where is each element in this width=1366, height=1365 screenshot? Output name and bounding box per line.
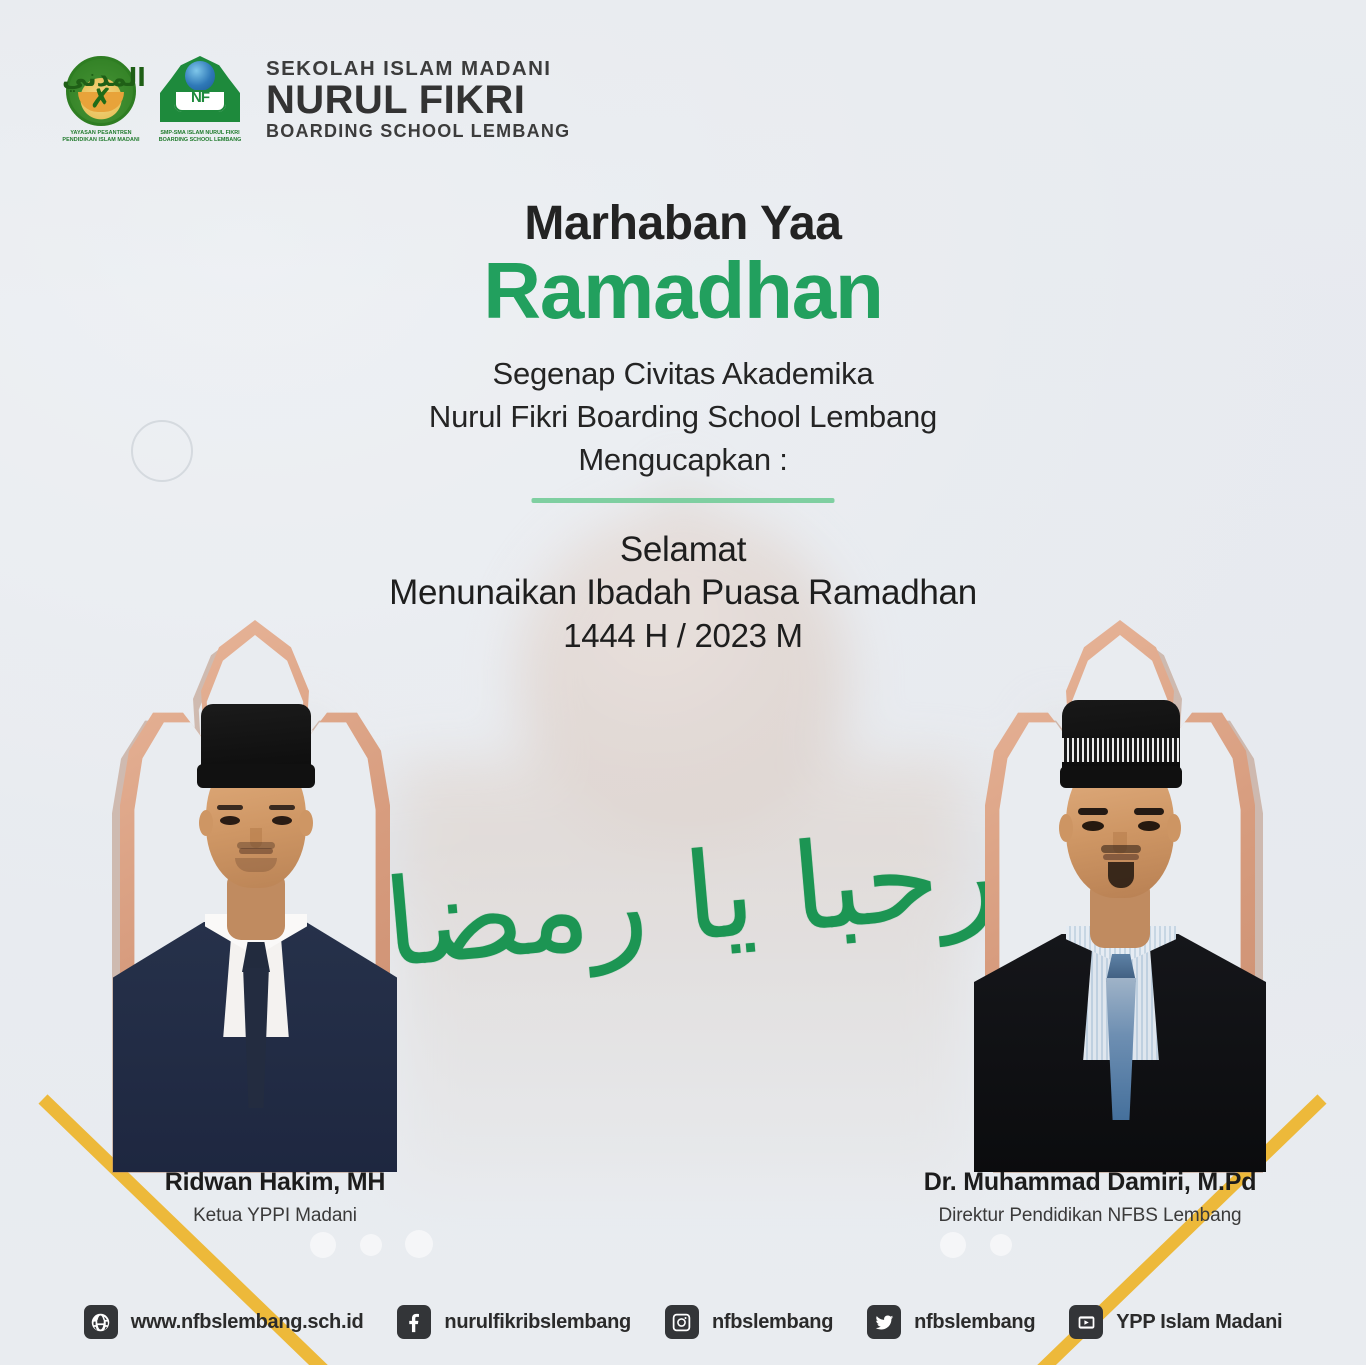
headline-block: Marhaban Yaa Ramadhan [0, 196, 1366, 334]
logo-quill-icon: ✗ [84, 87, 118, 109]
person-role: Ketua YPPI Madani [60, 1205, 490, 1227]
facebook-icon[interactable] [397, 1305, 431, 1339]
footer-label[interactable]: nfbslembang [712, 1311, 833, 1334]
nurul-fikri-logo: NF SMP-SMA ISLAM NURUL FIKRI BOARDING SC… [154, 56, 246, 144]
twitter-icon[interactable] [867, 1305, 901, 1339]
footer-item-youtube[interactable]: YPP Islam Madani [1069, 1305, 1282, 1339]
person-card-left [35, 620, 465, 1240]
greeting-line-1: Selamat [0, 528, 1366, 571]
footer-label[interactable]: nurulfikribslembang [444, 1311, 631, 1334]
headline-pretitle: Marhaban Yaa [0, 196, 1366, 251]
nf-caption-line2: BOARDING SCHOOL LEMBANG [151, 137, 249, 144]
portrait-photo-right [970, 642, 1270, 1172]
person-caption-left: Ridwan Hakim, MH Ketua YPPI Madani [60, 1168, 490, 1227]
headline-title: Ramadhan [0, 249, 1366, 334]
social-footer: www.nfbslembang.sch.id nurulfikribslemba… [0, 1279, 1366, 1365]
person-caption-right: Dr. Muhammad Damiri, M.Pd Direktur Pendi… [875, 1168, 1305, 1227]
greeting-line-2: Menunaikan Ibadah Puasa Ramadhan [0, 571, 1366, 614]
ramadhan-greeting-poster: المدني ✗ YAYASAN PESANTREN PENDIDIKAN IS… [0, 0, 1366, 1365]
brand-wordmark: SEKOLAH ISLAM MADANI NURUL FIKRI BOARDIN… [266, 58, 570, 143]
yppi-caption-line2: PENDIDIKAN ISLAM MADANI [62, 137, 140, 144]
footer-item-instagram[interactable]: nfbslembang [665, 1305, 833, 1339]
instagram-icon[interactable] [665, 1305, 699, 1339]
footer-label[interactable]: YPP Islam Madani [1116, 1311, 1282, 1334]
footer-item-facebook[interactable]: nurulfikribslembang [397, 1305, 631, 1339]
yppi-madani-logo: المدني ✗ YAYASAN PESANTREN PENDIDIKAN IS… [62, 56, 140, 144]
youtube-icon[interactable] [1069, 1305, 1103, 1339]
brand-line-3: BOARDING SCHOOL LEMBANG [266, 121, 570, 143]
footer-label[interactable]: nfbslembang [914, 1311, 1035, 1334]
person-role: Direktur Pendidikan NFBS Lembang [875, 1205, 1305, 1227]
brand-header: المدني ✗ YAYASAN PESANTREN PENDIDIKAN IS… [62, 56, 570, 144]
yppi-caption-line1: YAYASAN PESANTREN [62, 130, 140, 137]
subtitle-line-2: Nurul Fikri Boarding School Lembang [0, 395, 1366, 438]
footer-item-website[interactable]: www.nfbslembang.sch.id [84, 1305, 364, 1339]
nf-caption-line1: SMP-SMA ISLAM NURUL FIKRI [151, 130, 249, 137]
footer-label[interactable]: www.nfbslembang.sch.id [131, 1311, 364, 1334]
portrait-photo-left [105, 642, 405, 1172]
brand-line-2: NURUL FIKRI [266, 80, 570, 120]
subtitle-line-1: Segenap Civitas Akademika [0, 352, 1366, 395]
person-card-right [900, 620, 1330, 1240]
logo-globe-icon [185, 61, 215, 91]
logo-monogram: NF [174, 88, 226, 108]
green-divider [532, 498, 835, 503]
person-name: Ridwan Hakim, MH [60, 1168, 490, 1197]
footer-item-twitter[interactable]: nfbslembang [867, 1305, 1035, 1339]
globe-icon[interactable] [84, 1305, 118, 1339]
person-name: Dr. Muhammad Damiri, M.Pd [875, 1168, 1305, 1197]
subtitle-line-3: Mengucapkan : [0, 438, 1366, 481]
subtitle-block: Segenap Civitas Akademika Nurul Fikri Bo… [0, 352, 1366, 481]
